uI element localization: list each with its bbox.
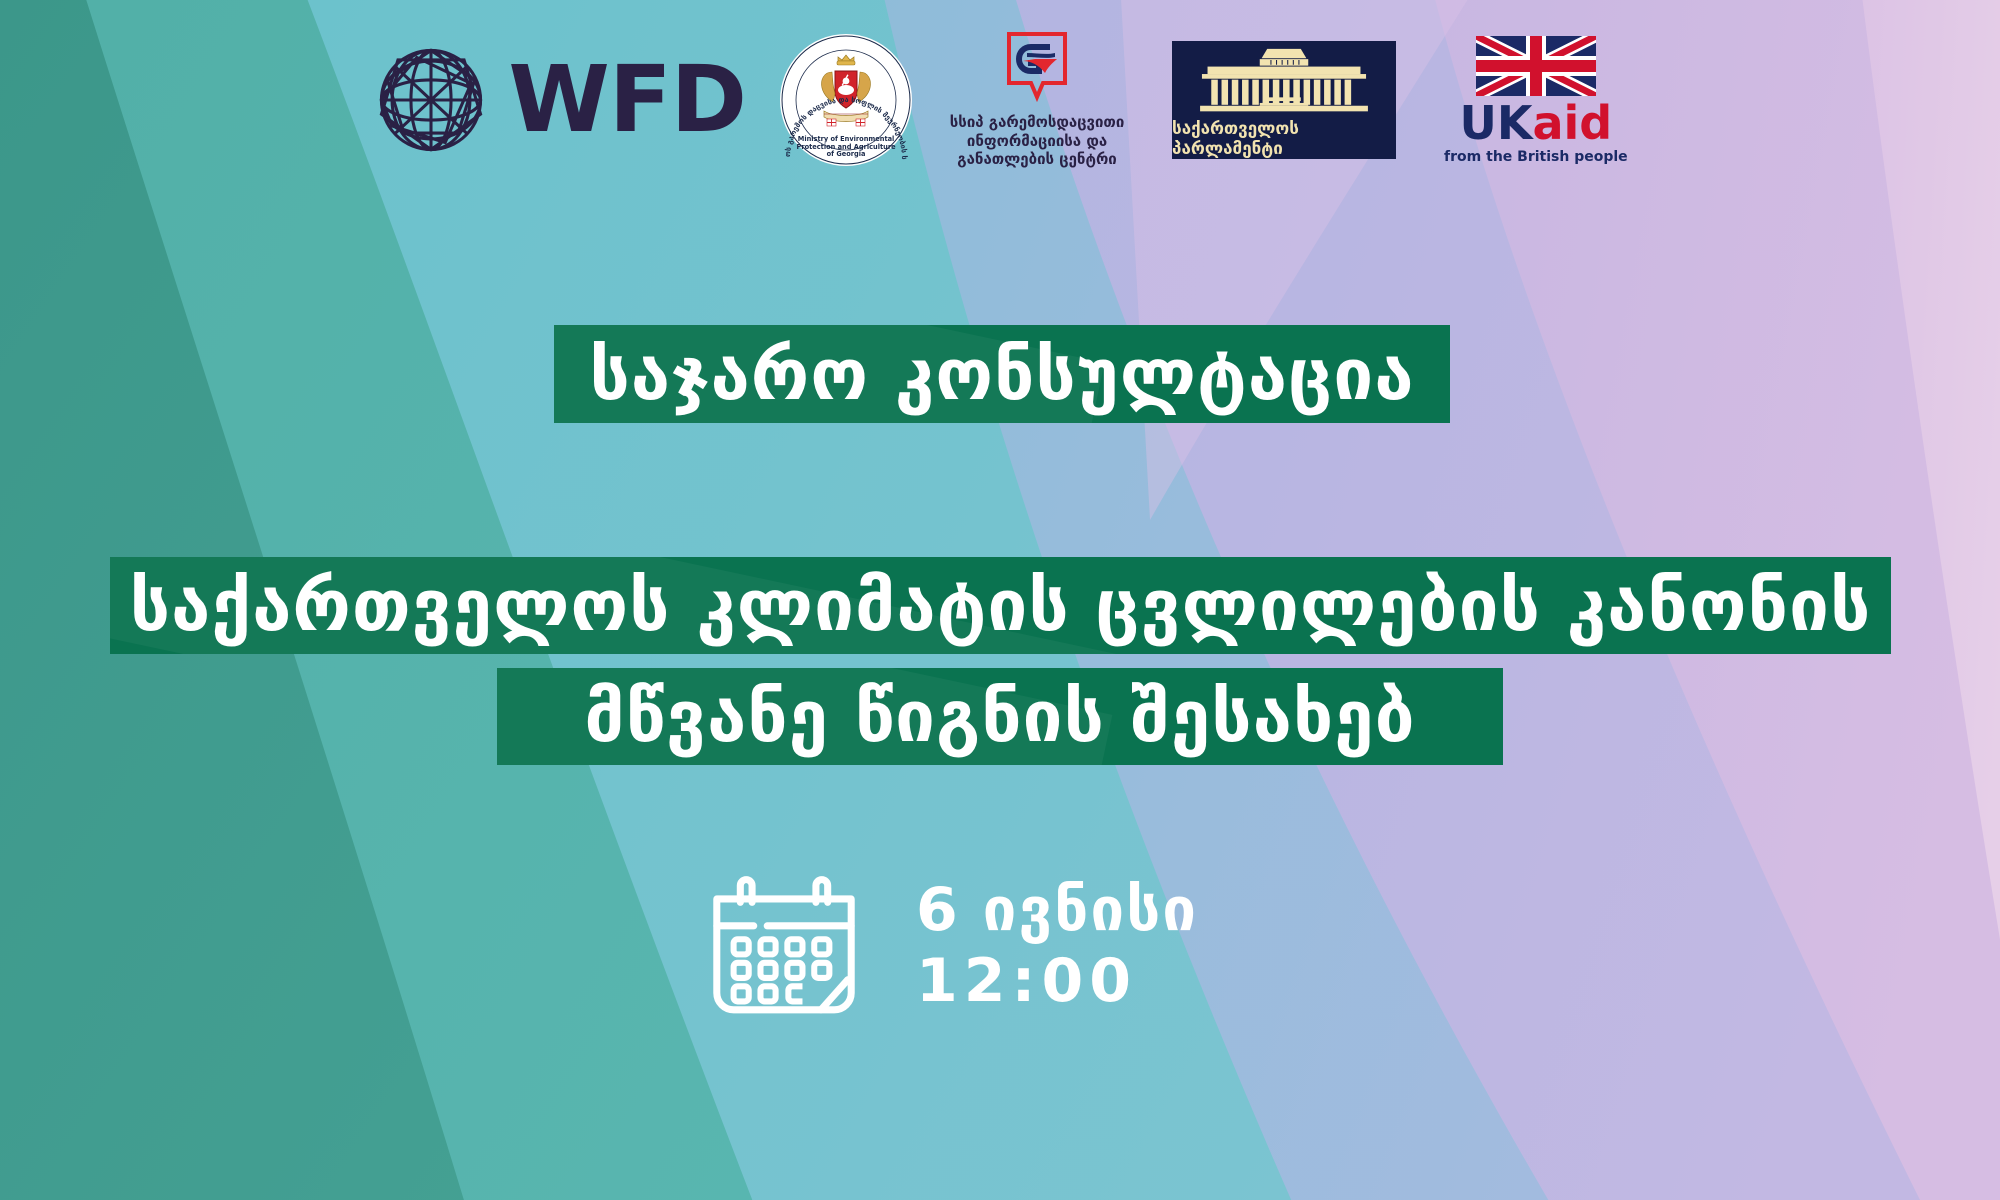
ukaid-word-aid: aid [1532,96,1612,150]
poster-canvas: WFD [0,0,2000,1200]
logo-ukaid: UKaid from the British people [1444,36,1628,165]
eiec-caption-line2: ინფორმაციისა და [950,132,1125,151]
logo-parliament-of-georgia: საქართველოს პარლამენტი [1172,41,1396,159]
eiec-emblem-icon [1005,31,1069,105]
banner-subtitle-line1-text: საქართველოს კლიმატის ცვლილების კანონის [130,564,1872,647]
union-jack-flag-icon [1476,36,1596,96]
eiec-caption-line3: განათლების ცენტრი [950,150,1125,169]
banner-public-consultation: საჯარო კონსულტაცია [554,325,1450,423]
banner-subtitle-line2: მწვანე წიგნის შესახებ [497,668,1503,765]
ministry-caption: Ministry of Environmental Protection and… [780,136,912,159]
logo-strip: WFD [0,30,2000,170]
wfd-wordmark: WFD [508,54,746,146]
parliament-building-icon [1192,47,1376,116]
calendar-icon [700,862,868,1030]
event-datetime-block: 6 ივნისი 12:00 [700,862,1198,1030]
event-datetime-text: 6 ივნისი 12:00 [916,875,1198,1017]
ukaid-subtitle: from the British people [1444,149,1628,165]
banner-subtitle-line2-text: მწვანე წიგნის შესახებ [584,675,1415,758]
eiec-caption: სსიპ გარემოსდაცვითი ინფორმაციისა და განა… [950,113,1125,169]
event-time: 12:00 [916,946,1198,1017]
banner-subtitle-line1: საქართველოს კლიმატის ცვლილების კანონის [110,557,1891,654]
logo-eiec: სსიპ გარემოსდაცვითი ინფორმაციისა და განა… [942,31,1132,169]
logo-ministry-of-environment: საქართველოს გარემოს დაცვისა და სოფლის მე… [780,34,912,166]
ministry-caption-line3: of Georgia [780,151,912,159]
eiec-caption-line1: სსიპ გარემოსდაცვითი [950,113,1125,132]
ukaid-word-uk: UK [1459,96,1532,150]
event-date: 6 ივნისი [916,875,1198,946]
globe-wireframe-icon [372,41,490,159]
logo-wfd: WFD [372,41,746,159]
banner-title-text: საჯარო კონსულტაცია [589,333,1414,416]
ukaid-wordmark: UKaid [1459,100,1612,146]
parliament-label: საქართველოს პარლამენტი [1172,119,1396,159]
